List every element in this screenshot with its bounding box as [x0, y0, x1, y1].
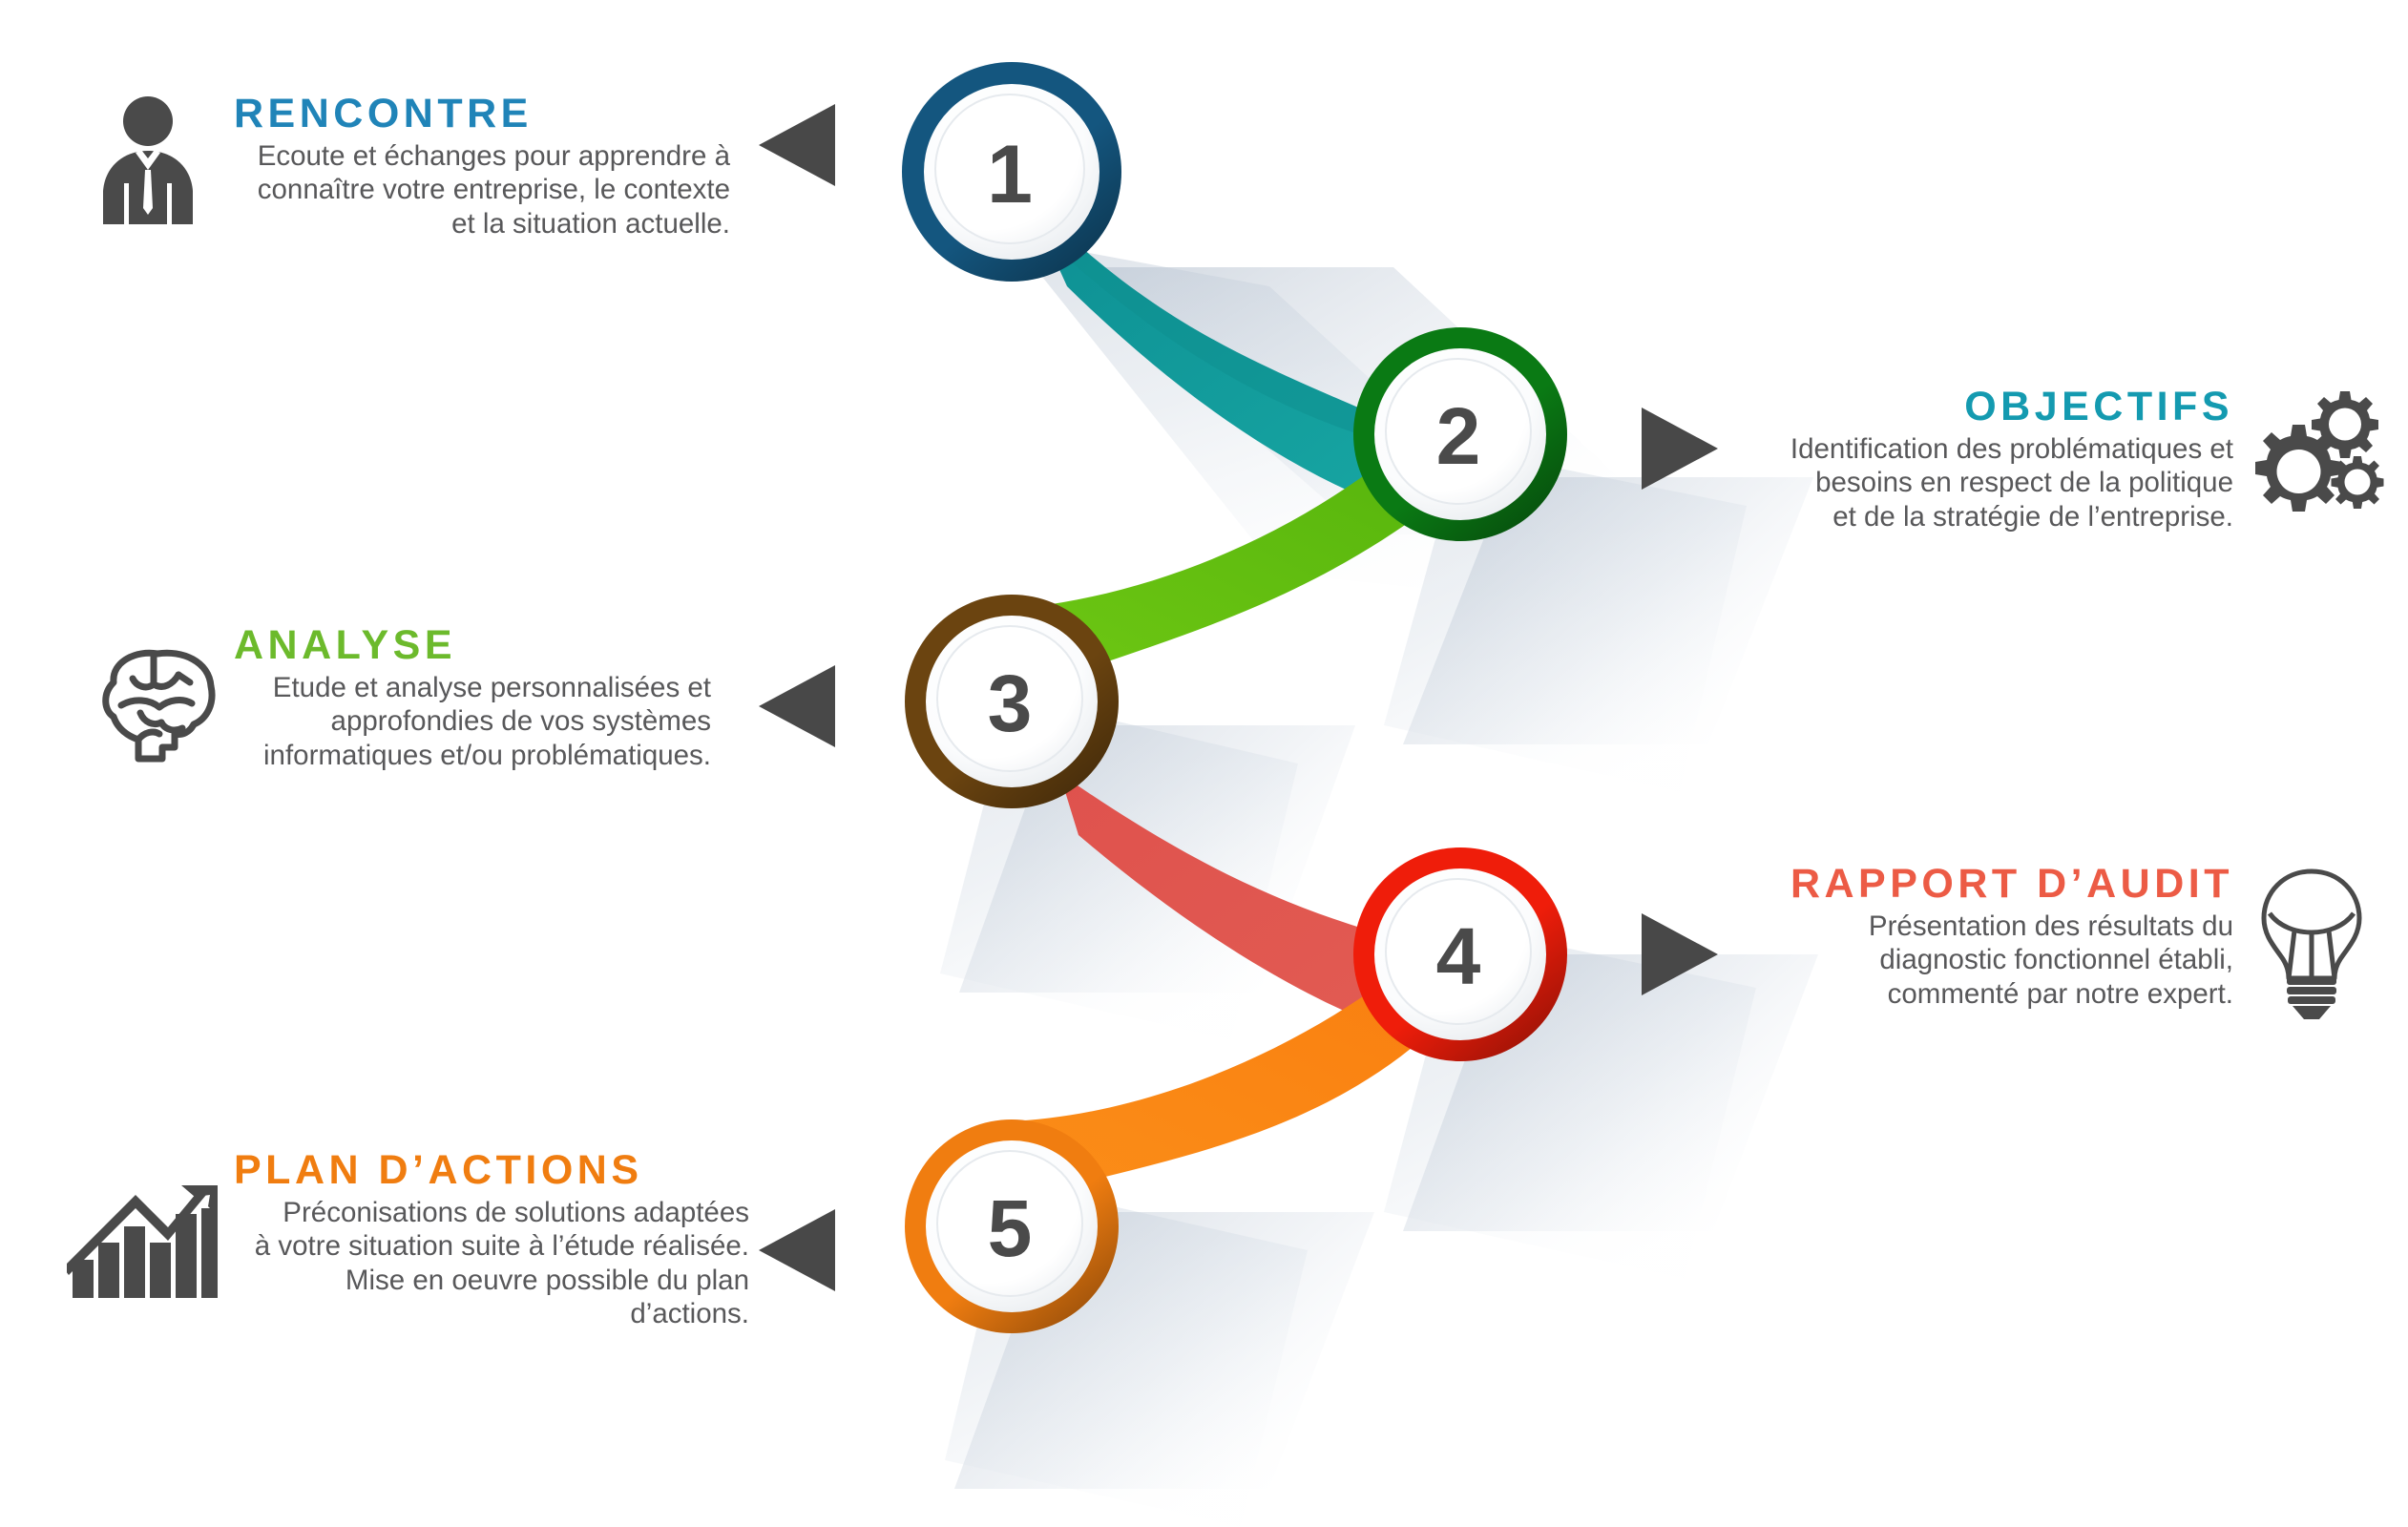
step-4-text-block: RAPPORT D’AUDIT Présentation des résulta… — [1737, 864, 2233, 1011]
node-2-number: 2 — [1436, 391, 1481, 481]
node-4[interactable]: 4 — [1353, 847, 1567, 1061]
step-1-title: RENCONTRE — [234, 94, 730, 136]
step-5-description: Préconisations de solutions adaptées à v… — [234, 1196, 749, 1331]
step-5-text-block: PLAN D’ACTIONS Préconisations de solutio… — [234, 1150, 749, 1330]
growth-chart-icon — [67, 1183, 220, 1303]
node-5-number: 5 — [988, 1183, 1033, 1273]
step-3-description: Etude et analyse personnalisées et appro… — [234, 671, 711, 772]
triangle-left-icon — [759, 1209, 835, 1291]
node-1-number: 1 — [987, 129, 1033, 220]
node-5[interactable]: 5 — [905, 1119, 1119, 1333]
step-1-description: Ecoute et échanges pour apprendre à conn… — [234, 139, 730, 241]
step-4-description: Présentation des résultats du diagnostic… — [1737, 910, 2233, 1011]
step-2-text-block: OBJECTIFS Identification des problématiq… — [1747, 387, 2233, 533]
node-1[interactable]: 1 — [902, 62, 1121, 282]
triangle-left-icon — [759, 104, 835, 186]
step-4-title: RAPPORT D’AUDIT — [1737, 864, 2233, 906]
step-1-text-block: RENCONTRE Ecoute et échanges pour appren… — [234, 94, 730, 241]
lightbulb-icon — [2252, 864, 2372, 1021]
node-3[interactable]: 3 — [905, 595, 1119, 808]
node-2[interactable]: 2 — [1353, 327, 1567, 541]
step-3-text-block: ANALYSE Etude et analyse personnalisées … — [234, 625, 711, 772]
step-2-description: Identification des problématiques et bes… — [1747, 432, 2233, 533]
gears-icon — [2233, 382, 2405, 539]
brain-icon — [91, 644, 229, 768]
node-4-number: 4 — [1436, 911, 1481, 1001]
businessman-icon — [95, 95, 202, 224]
node-3-number: 3 — [988, 659, 1033, 748]
infographic-canvas: 1 2 3 4 — [0, 0, 2408, 1527]
step-5-title: PLAN D’ACTIONS — [234, 1150, 749, 1192]
step-3-title: ANALYSE — [234, 625, 711, 667]
triangle-left-icon — [759, 665, 835, 747]
step-2-title: OBJECTIFS — [1747, 387, 2233, 429]
